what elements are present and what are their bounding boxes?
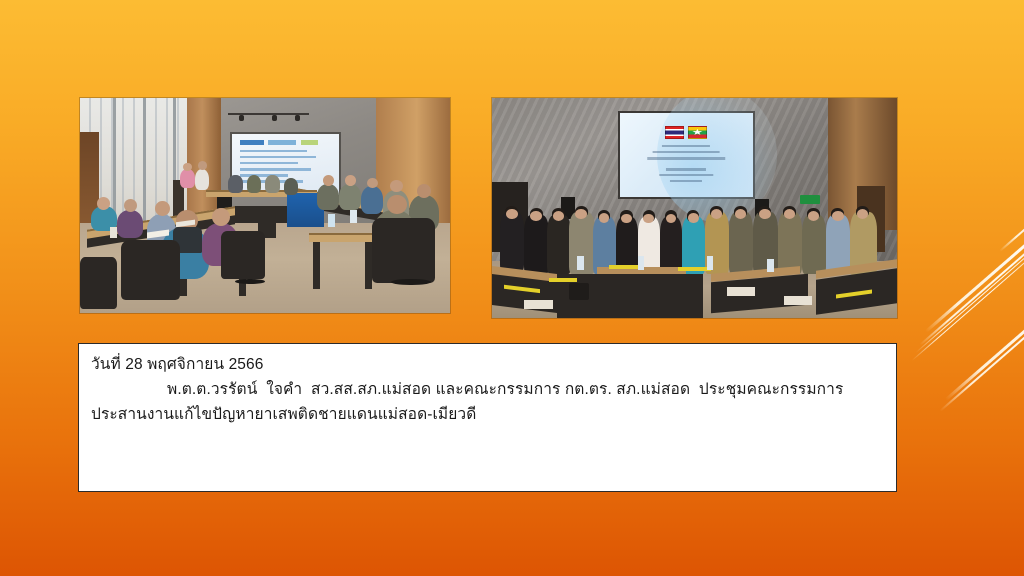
thailand-flag-icon	[665, 126, 684, 139]
group-photo	[492, 98, 897, 318]
projector-screen	[618, 111, 756, 199]
meeting-room-photo	[80, 98, 450, 313]
caption-line-1: วันที่ 28 พฤศจิกายน 2566	[91, 352, 884, 377]
caption-line-3: ประสานงานแก้ไขปัญหายาเสพติดชายแดนแม่สอด-…	[91, 402, 884, 427]
caption-line-2: พ.ต.ต.วรรัตน์ ใจคำ สว.สส.สภ.แม่สอด และคณ…	[91, 377, 884, 402]
slide-canvas: วันที่ 28 พฤศจิกายน 2566 พ.ต.ต.วรรัตน์ ใ…	[0, 0, 1024, 576]
caption-textbox: วันที่ 28 พฤศจิกายน 2566 พ.ต.ต.วรรัตน์ ใ…	[78, 343, 897, 492]
myanmar-flag-icon	[688, 126, 707, 139]
